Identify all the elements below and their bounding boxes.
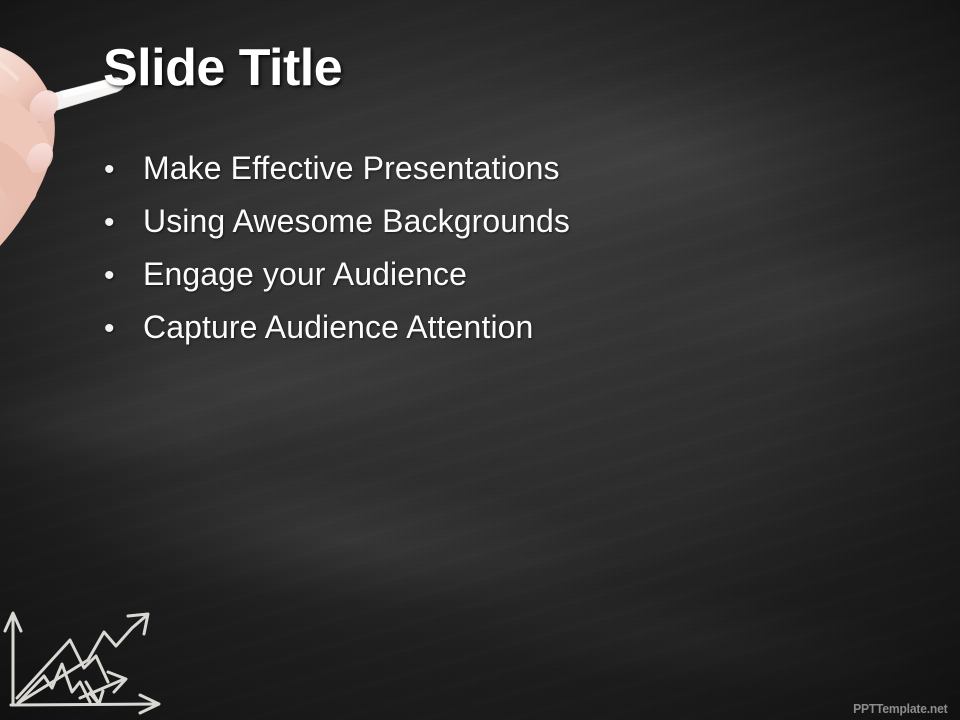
slide-canvas: Slide Title • Make Effective Presentatio… [0,0,960,720]
list-item: • Capture Audience Attention [104,311,804,364]
bullet-marker-icon: • [104,261,143,291]
list-item-label: Engage your Audience [143,258,467,290]
list-item: • Engage your Audience [104,258,804,311]
chalk-chart-doodle-icon [0,598,180,720]
list-item: • Make Effective Presentations [104,152,804,205]
list-item-label: Using Awesome Backgrounds [143,205,570,237]
bullet-list: • Make Effective Presentations • Using A… [104,152,804,364]
chalk-chart-doodle-svg [0,598,180,720]
list-item-label: Make Effective Presentations [143,152,560,184]
list-item: • Using Awesome Backgrounds [104,205,804,258]
bullet-marker-icon: • [104,208,143,238]
page-title: Slide Title [103,38,342,98]
bullet-marker-icon: • [104,314,143,344]
list-item-label: Capture Audience Attention [143,311,533,343]
watermark-label: PPTTemplate.net [854,701,948,716]
bullet-marker-icon: • [104,155,143,185]
